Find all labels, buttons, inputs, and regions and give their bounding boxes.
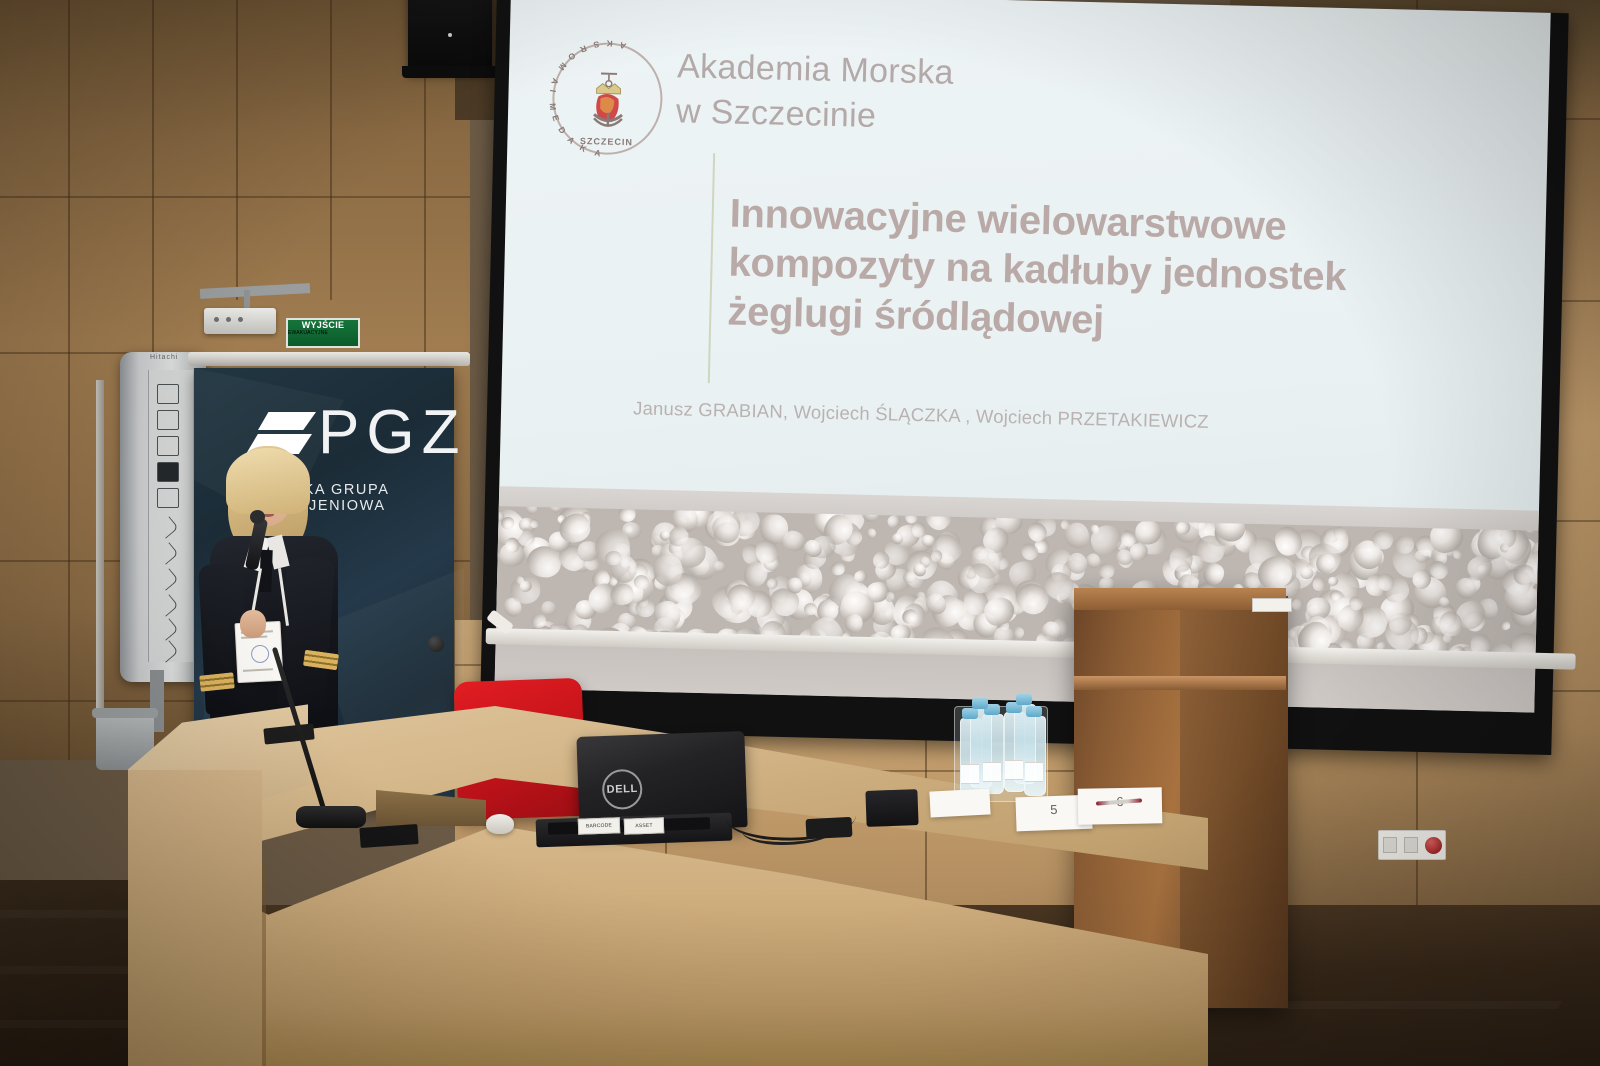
- banner-top-rail: [188, 352, 470, 366]
- page-blank-icon[interactable]: [157, 436, 179, 456]
- griffin-anchor-emblem: [586, 72, 631, 131]
- presenter-hand: [240, 610, 266, 638]
- paper-sheet-a: [929, 788, 990, 817]
- network-socket-icon-2: [1404, 837, 1418, 853]
- whiteboard-support-pole: [96, 380, 104, 710]
- slide-surface: A K A D E M I A M O R S K A: [495, 0, 1551, 713]
- desk-cable-port-2: [359, 824, 418, 848]
- badge-logo-icon: [251, 644, 270, 663]
- asset-tag-barcode: BARCODE: [578, 817, 621, 834]
- gooseneck-microphone-base[interactable]: [296, 806, 366, 828]
- water-bottle-pack: [958, 700, 1044, 800]
- emergency-button-icon[interactable]: [1425, 837, 1442, 854]
- podium-mid-band: [1074, 676, 1286, 690]
- page-fill-icon[interactable]: [157, 462, 179, 482]
- dell-logo-icon: DELL: [602, 769, 643, 810]
- wall-loudspeaker-base: [402, 66, 498, 78]
- page-save-icon[interactable]: [157, 488, 179, 508]
- slide-material-image: [495, 486, 1539, 712]
- speaker-led-icon: [448, 33, 452, 37]
- paper-name-card-6: 6: [1078, 787, 1163, 824]
- paper-label-6: 6: [1078, 787, 1162, 809]
- presenter-hair-front: [226, 448, 310, 514]
- gooseneck-microphone-head-icon: [428, 636, 444, 652]
- exit-sign-line1: WYJŚCIE: [288, 320, 358, 330]
- pen-thick-icon[interactable]: [156, 568, 179, 590]
- asset-tag-label: ASSET: [624, 817, 665, 834]
- handheld-microphone-head-icon: [250, 510, 265, 524]
- highlighter-icon[interactable]: [156, 594, 179, 616]
- computer-mouse[interactable]: [486, 814, 514, 834]
- presentation-room-photo: A K A D E M I A M O R S K A: [0, 0, 1600, 1066]
- eraser-icon[interactable]: [156, 618, 179, 640]
- slide-title: Innowacyjne wielowarstwowe kompozyty na …: [727, 190, 1430, 353]
- slide-organization: Akademia Morska w Szczecinie: [676, 44, 1098, 144]
- whiteboard-tool-strip[interactable]: [148, 370, 193, 662]
- page-new-icon[interactable]: [157, 384, 179, 404]
- slide-org-line2: w Szczecinie: [676, 89, 1097, 144]
- clip-icon[interactable]: [156, 640, 179, 662]
- slide-accent-bar: [708, 153, 715, 383]
- emergency-exit-sign: WYJŚCIE EWAKUACYJNE: [286, 318, 360, 348]
- projector-unit: [204, 308, 276, 334]
- page-copy-icon[interactable]: [157, 410, 179, 430]
- wall-loudspeaker-icon: [408, 0, 492, 74]
- black-device-stand: [865, 789, 918, 827]
- desk-left-panel: [128, 770, 262, 1066]
- desk-panel-seam: [262, 866, 266, 1066]
- wall-socket-plate[interactable]: [1378, 830, 1446, 860]
- akademia-morska-seal: A K A D E M I A M O R S K A: [551, 41, 664, 156]
- slide-authors: Janusz GRABIAN, Wojciech ŚLĄCZKA , Wojci…: [633, 397, 1453, 438]
- network-socket-icon: [1383, 837, 1397, 853]
- exit-sign-line2: EWAKUACYJNE: [288, 330, 358, 336]
- podium-label-plate: [1252, 598, 1292, 612]
- pen-thin-icon[interactable]: [156, 542, 179, 564]
- pen-icon[interactable]: [156, 516, 179, 538]
- power-supply-brick: [806, 817, 853, 839]
